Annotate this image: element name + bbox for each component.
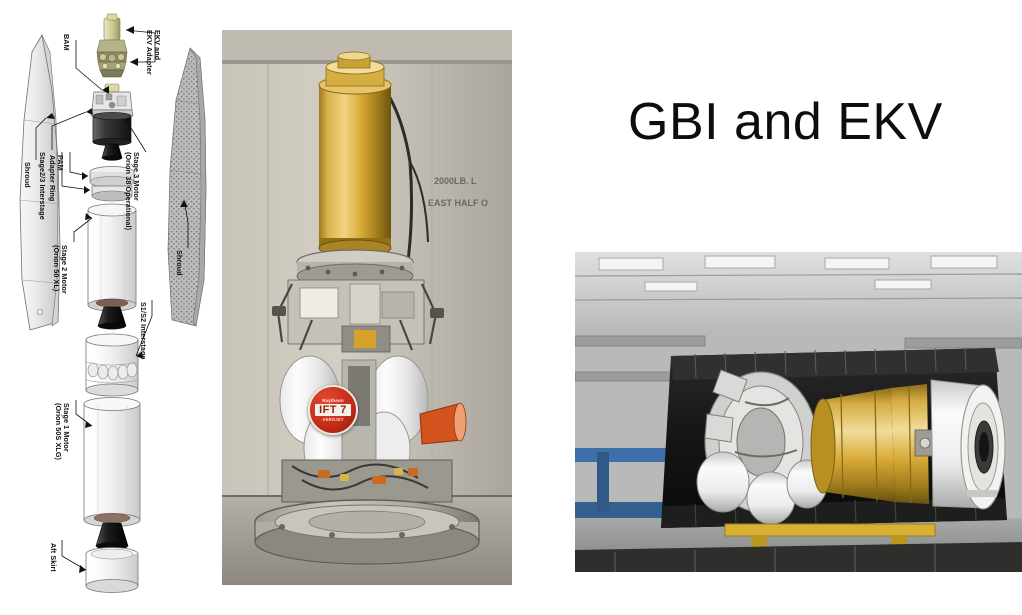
gbi-exploded-diagram: EKV and EKV Adapter BAM Stage 3 Motor (O… bbox=[0, 0, 220, 615]
label-bam: BAM bbox=[62, 34, 70, 51]
stage-1-motor bbox=[84, 398, 140, 550]
s1-s2-interstage bbox=[86, 334, 138, 396]
shroud-half-right bbox=[168, 48, 206, 326]
mission-badge-ift7: Raytheon IFT 7 AEROJET bbox=[308, 385, 358, 435]
ekv-white-nose bbox=[931, 380, 1005, 509]
ekv-adapter bbox=[97, 52, 127, 77]
label-stage-2-3-interstage: Stage2/3 Interstage bbox=[38, 152, 46, 220]
exploded-view-drawing bbox=[0, 0, 220, 615]
wall-text-east-half: EAST HALF O bbox=[428, 198, 488, 208]
photo-gbi-kill-vehicle-stack: 2000LB. L EAST HALF O bbox=[222, 30, 512, 585]
slide-canvas: EKV and EKV Adapter BAM Stage 3 Motor (O… bbox=[0, 0, 1022, 615]
slide-title: GBI and EKV bbox=[628, 92, 943, 152]
bam-avionics-section bbox=[92, 84, 132, 110]
aft-skirt bbox=[86, 548, 138, 593]
ekv-assembly bbox=[97, 14, 127, 77]
label-stage-2-motor: Stage 2 Motor (Orion 50 XL) bbox=[51, 245, 68, 294]
base-turntable bbox=[255, 500, 479, 564]
photo-ekv-in-canister bbox=[575, 252, 1022, 572]
wall-text-load: 2000LB. L bbox=[434, 176, 477, 186]
lower-machinery bbox=[282, 460, 452, 502]
label-stage-1-motor: Stage 1 Motor (Orion 50S XLG) bbox=[53, 403, 70, 460]
photo-right-artwork bbox=[575, 252, 1022, 572]
badge-top-text: Raytheon bbox=[322, 398, 344, 403]
label-pam-adapter-ring: PAM Adapter Ring bbox=[47, 155, 64, 201]
gold-cylinder bbox=[319, 52, 391, 256]
badge-bottom-text: AEROJET bbox=[322, 417, 343, 422]
label-s1-s2-interstage: S1/S2 Interstage bbox=[139, 302, 147, 360]
photo-center-artwork: 2000LB. L EAST HALF O bbox=[222, 30, 512, 585]
label-shroud-left: Shroud bbox=[23, 162, 31, 188]
label-ekv-and-ekv-adapter: EKV and EKV Adapter bbox=[144, 30, 161, 75]
badge-mission-text: IFT 7 bbox=[315, 404, 351, 416]
label-stage-3-motor: Stage 3 Motor (Orion 38 Operational) bbox=[123, 152, 140, 230]
avionics-deck bbox=[272, 280, 444, 352]
gold-body-section bbox=[811, 384, 935, 504]
label-aft-skirt: Aft Skirt bbox=[49, 543, 57, 572]
label-shroud-right: Shroud bbox=[175, 250, 183, 276]
